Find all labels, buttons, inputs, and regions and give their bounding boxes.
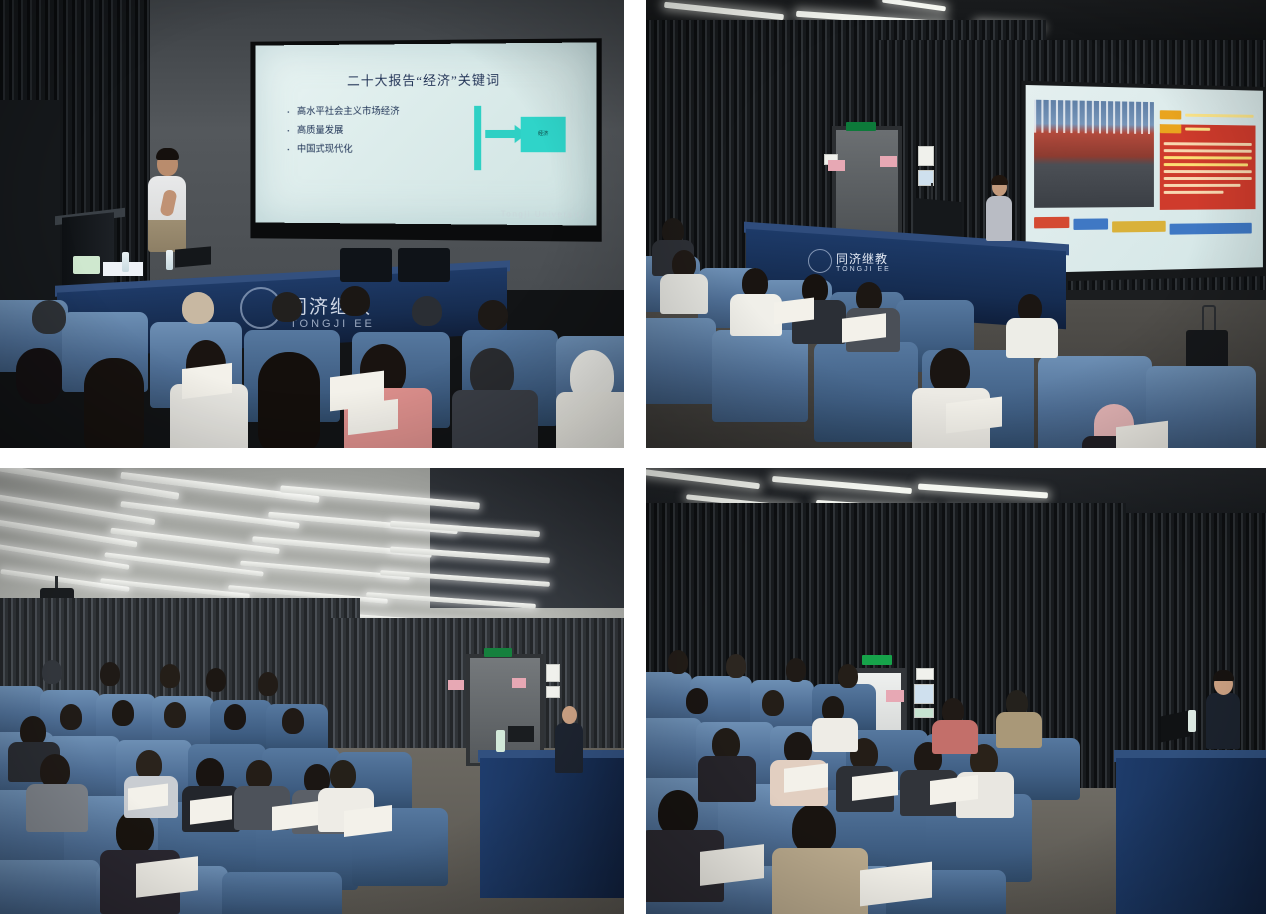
exit-sign-icon [484,648,512,657]
head-table [480,758,624,898]
banner-chinese: 同济继教 [836,250,888,267]
banner-english: TONGJI EE [836,266,891,273]
exit-sign-icon [862,655,892,665]
door [470,658,540,763]
slide-callout-box: 经济 [521,117,566,152]
photo-bottom-right [646,468,1266,914]
exit-sign-icon [846,122,876,131]
tongji-seal-icon [808,249,832,273]
lecturer [555,723,583,773]
slide-callout-label: 经济 [521,117,566,152]
slide-red-panel [1160,124,1256,210]
gutter-horizontal [0,448,1266,468]
photo-top-right: 同济继教 TONGJI EE [646,0,1266,448]
slide-watermark: Tongji University [501,210,587,220]
banner-english: TONGJI EE [290,318,375,330]
slide-title: 二十大报告“经济”关键词 [269,69,582,90]
photo-collage: 二十大报告“经济”关键词 高水平社会主义市场经济 高质量发展 中国式现代化 经济… [0,0,1266,914]
lecturer [1206,693,1240,749]
photo-top-left: 二十大报告“经济”关键词 高水平社会主义市场经济 高质量发展 中国式现代化 经济… [0,0,624,448]
head-table [1116,758,1266,914]
slide-arrow-icon [485,130,515,138]
photo-bottom-left [0,468,624,914]
projection-screen: 二十大报告“经济”关键词 高水平社会主义市场经济 高质量发展 中国式现代化 经济… [255,42,596,225]
presenter [986,196,1012,241]
slide-accent-bar [474,106,481,170]
